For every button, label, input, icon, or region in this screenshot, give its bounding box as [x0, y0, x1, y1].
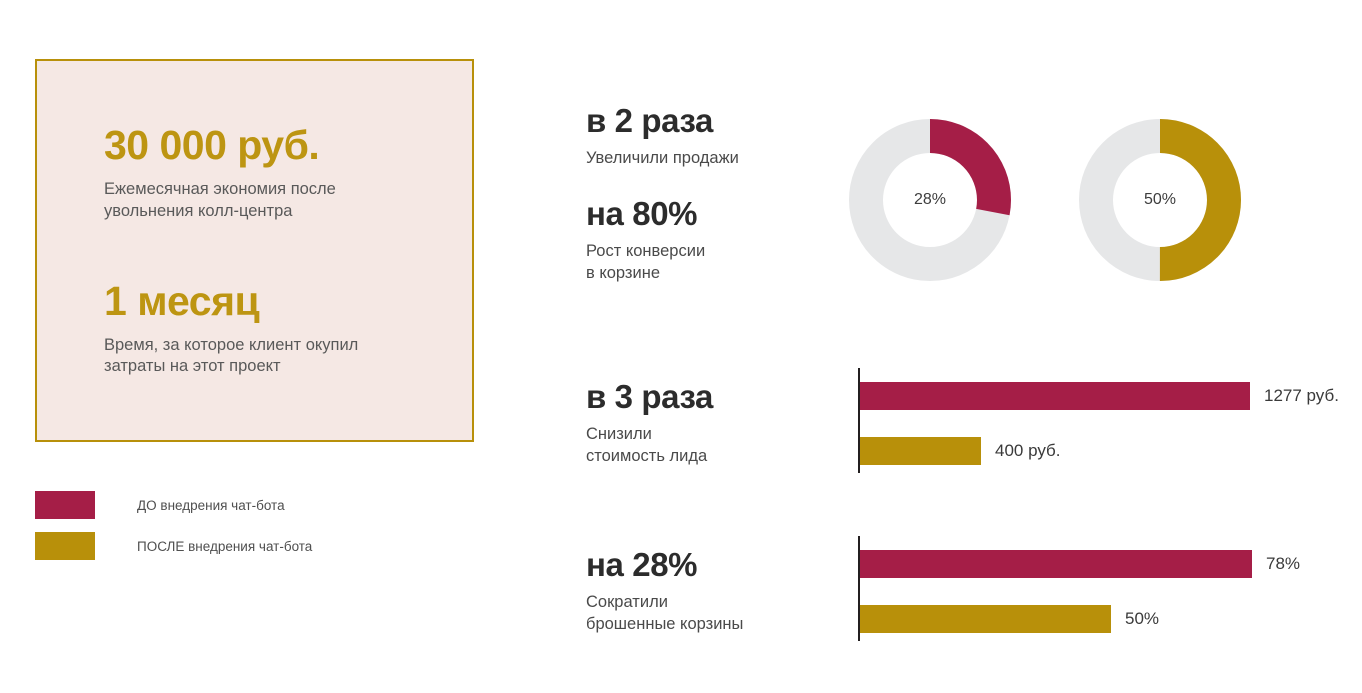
metric-abandoned-cart-headline: на 28% — [586, 547, 743, 583]
legend-label-before: ДО внедрения чат-бота — [137, 498, 285, 513]
metric-lead-cost-description: Снизили стоимость лида — [586, 424, 713, 468]
metric-lead-cost: в 3 раза Снизили стоимость лида — [586, 379, 713, 468]
bar-row-lead-before: 1277 руб. — [860, 382, 1339, 410]
metric-lead-cost-headline: в 3 раза — [586, 379, 713, 415]
savings-highlight-card: 30 000 руб. Ежемесячная экономия после у… — [35, 59, 474, 442]
metric-abandoned-cart-description: Сократили брошенные корзины — [586, 592, 743, 636]
legend-item-before: ДО внедрения чат-бота — [35, 491, 312, 519]
legend-swatch-before — [35, 491, 95, 519]
kpi-block-payback: 1 месяц Время, за которое клиент окупил … — [104, 280, 444, 379]
legend-item-after: ПОСЛЕ внедрения чат-бота — [35, 532, 312, 560]
bar-row-cart-before: 78% — [860, 550, 1300, 578]
bar-row-cart-after: 50% — [860, 605, 1159, 633]
metric-sales-headline: в 2 раза — [586, 103, 739, 139]
legend-label-after: ПОСЛЕ внедрения чат-бота — [137, 539, 312, 554]
bar-cart-before — [860, 550, 1252, 578]
donut-before-center-label: 28% — [848, 191, 1012, 209]
metric-conversion-description: Рост конверсии в корзине — [586, 241, 705, 285]
donut-chart-before: 28% — [848, 118, 1012, 282]
donut-chart-after: 50% — [1078, 118, 1242, 282]
infographic-canvas: 30 000 руб. Ежемесячная экономия после у… — [0, 0, 1362, 693]
kpi-savings-description: Ежемесячная экономия после увольнения ко… — [104, 179, 404, 223]
kpi-payback-description: Время, за которое клиент окупил затраты … — [104, 335, 404, 379]
donut-after-graphic: 50% — [1078, 118, 1242, 282]
bar-row-lead-after: 400 руб. — [860, 437, 1061, 465]
legend-swatch-after — [35, 532, 95, 560]
bar-lead-after-value: 400 руб. — [995, 441, 1061, 461]
bar-lead-after — [860, 437, 981, 465]
metric-sales-description: Увеличили продажи — [586, 148, 739, 170]
bar-lead-before — [860, 382, 1250, 410]
bar-cart-after-value: 50% — [1125, 609, 1159, 629]
metric-abandoned-cart: на 28% Сократили брошенные корзины — [586, 547, 743, 636]
kpi-savings-value: 30 000 руб. — [104, 124, 444, 167]
metric-conversion: на 80% Рост конверсии в корзине — [586, 196, 705, 285]
card-content: 30 000 руб. Ежемесячная экономия после у… — [104, 124, 444, 378]
bar-cart-after — [860, 605, 1111, 633]
metric-conversion-headline: на 80% — [586, 196, 705, 232]
bar-lead-before-value: 1277 руб. — [1264, 386, 1339, 406]
donut-after-center-label: 50% — [1078, 191, 1242, 209]
bar-cart-before-value: 78% — [1266, 554, 1300, 574]
metric-sales: в 2 раза Увеличили продажи — [586, 103, 739, 170]
donut-before-graphic: 28% — [848, 118, 1012, 282]
kpi-payback-value: 1 месяц — [104, 280, 444, 323]
kpi-block-savings: 30 000 руб. Ежемесячная экономия после у… — [104, 124, 444, 223]
legend: ДО внедрения чат-бота ПОСЛЕ внедрения ча… — [35, 491, 312, 573]
